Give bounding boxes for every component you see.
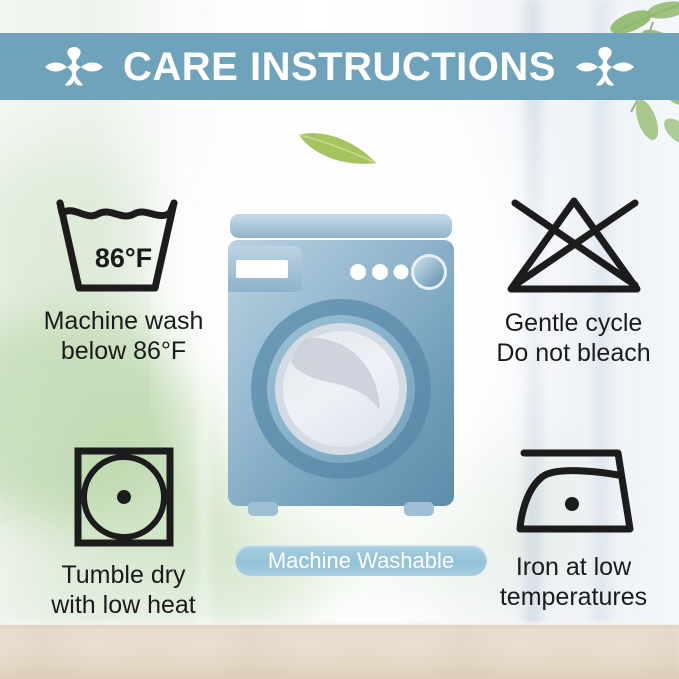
caption-line: Iron at low [500,553,647,583]
caption-line: below 86°F [44,337,204,367]
wash-temperature-value: 86°F [44,243,204,274]
care-symbol-caption: Gentle cycle Do not bleach [496,309,650,368]
care-symbol-machine-wash: 86°F Machine wash below 86°F [16,193,231,366]
drawer-slot [236,260,288,278]
control-knob [414,257,444,287]
care-instructions-infographic: CARE INSTRUCTIONS 86°F Machine wash belo… [0,0,679,679]
control-dot [350,264,366,280]
care-symbol-iron: Iron at low temperatures [468,445,679,612]
caption-line: Tumble dry [51,561,196,591]
machine-lid [230,214,452,238]
control-dot [372,264,388,280]
fleur-de-lis-icon [574,43,636,91]
iron-one-dot-icon [506,445,642,541]
washing-machine-icon [228,214,454,530]
caption-line: temperatures [500,583,647,613]
care-symbol-caption: Machine wash below 86°F [44,307,204,366]
care-symbol-caption: Tumble dry with low heat [51,561,196,620]
wash-tub-icon: 86°F [44,193,204,297]
wood-grain [0,630,679,676]
caption-line: with low heat [51,591,196,621]
header-banner: CARE INSTRUCTIONS [0,33,679,100]
fleur-de-lis-icon [43,43,105,91]
caption-line: Machine wash [44,307,204,337]
triangle-crossed-out-icon [495,193,653,297]
care-symbol-do-not-bleach: Gentle cycle Do not bleach [468,193,679,368]
machine-washable-badge: Machine Washable [235,545,487,576]
caption-line: Do not bleach [496,339,650,369]
tumble-dry-low-heat-icon [72,445,176,549]
badge-label: Machine Washable [268,550,454,572]
machine-foot [404,502,434,516]
control-dot [394,265,409,280]
caption-line: Gentle cycle [496,309,650,339]
leaf-icon [296,123,380,169]
care-symbol-caption: Iron at low temperatures [500,553,647,612]
machine-foot [248,502,278,516]
care-symbol-tumble-dry: Tumble dry with low heat [16,445,231,620]
page-title: CARE INSTRUCTIONS [123,47,556,87]
